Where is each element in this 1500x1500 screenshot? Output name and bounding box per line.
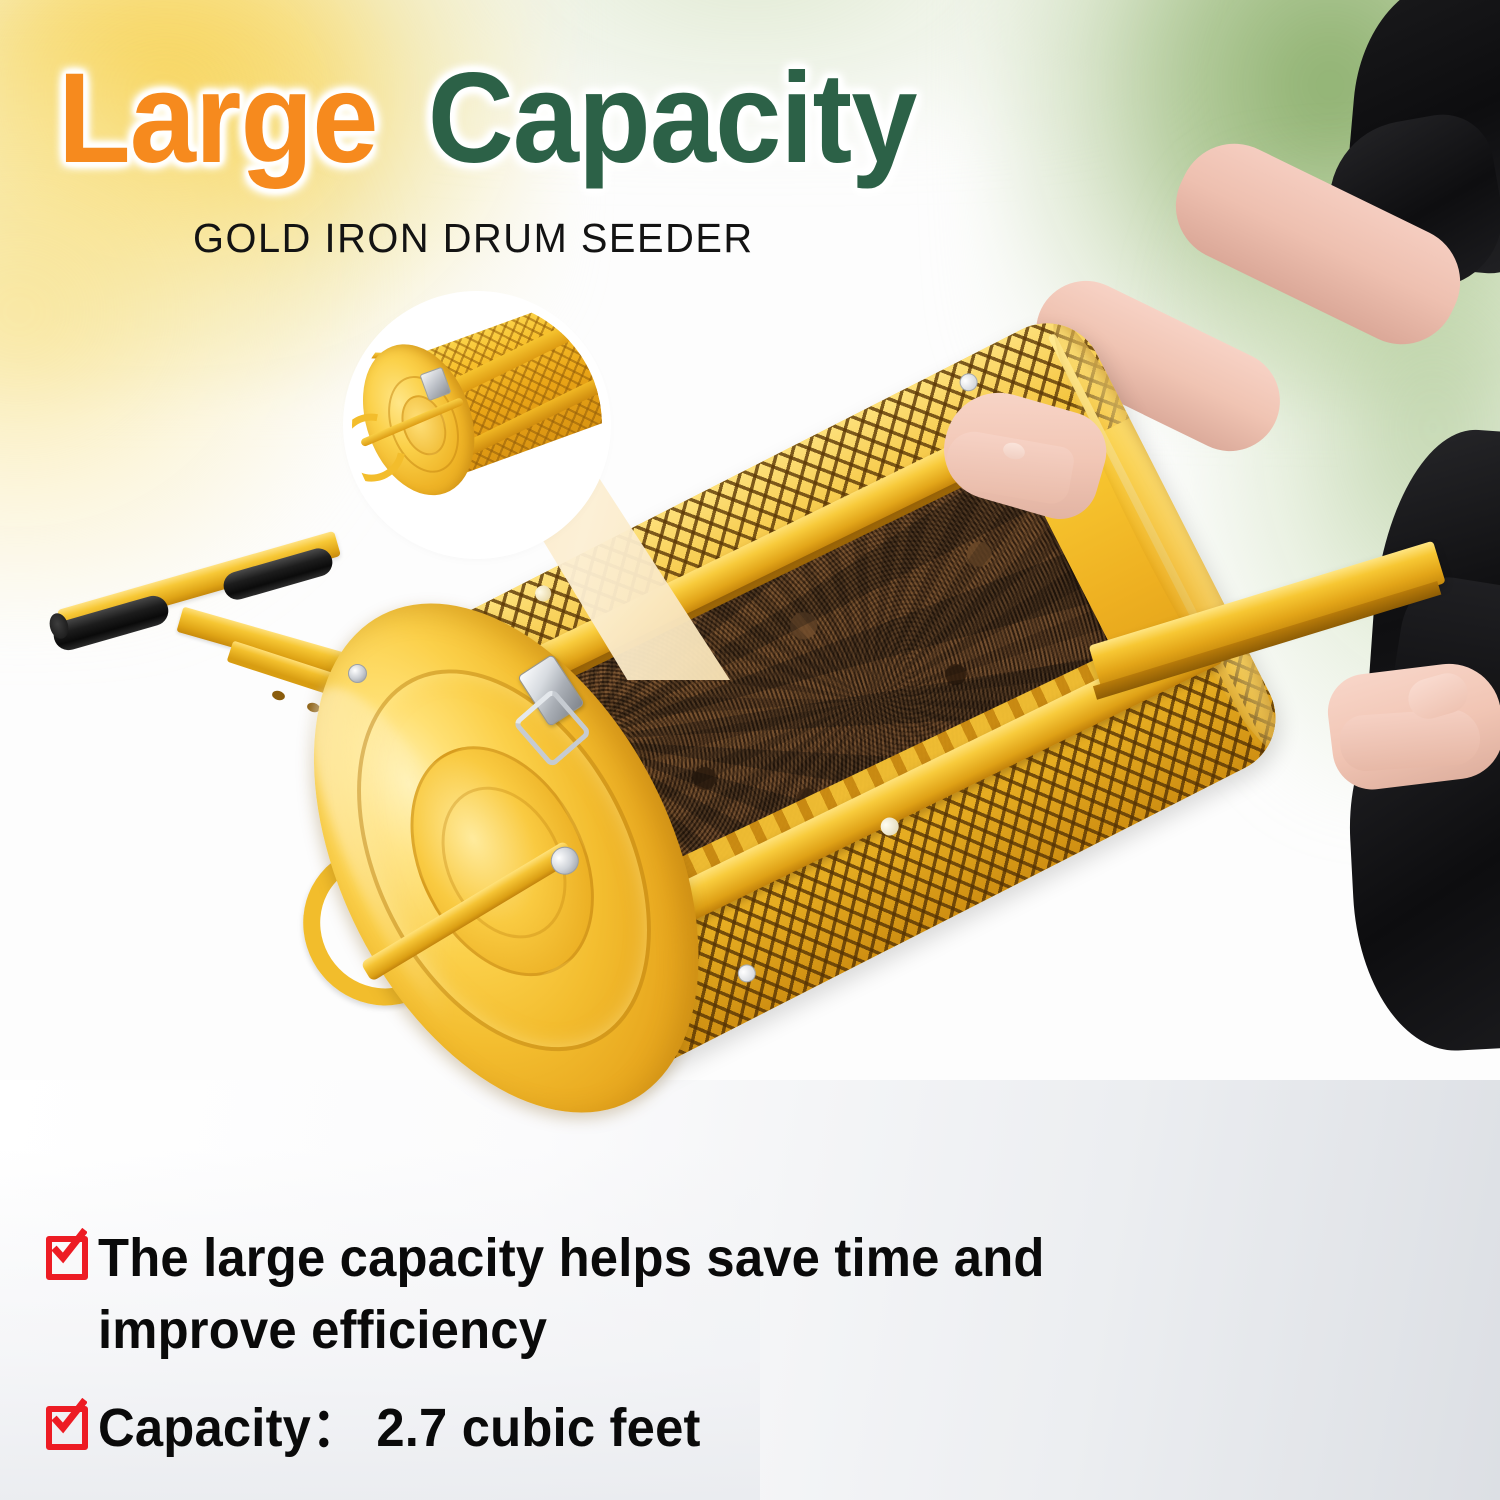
feature-bullet-text: The large capacity helps save time and i… xyxy=(98,1222,1254,1366)
person-hand-bottom-fingers xyxy=(1338,707,1482,773)
red-checkbox-icon xyxy=(44,1230,84,1272)
callout-inset-circle xyxy=(352,300,602,550)
feature-bullet-list: The large capacity helps save time and i… xyxy=(44,1222,1344,1490)
feature-bullet-text: Capacity： 2.7 cubic feet xyxy=(98,1392,701,1464)
red-checkbox-icon xyxy=(44,1400,84,1442)
headline: LargeCapacity xyxy=(58,52,1100,192)
callout-inset-image xyxy=(352,300,602,550)
feature-bullet-item: The large capacity helps save time and i… xyxy=(44,1222,1344,1366)
feature-bullet-item: Capacity： 2.7 cubic feet xyxy=(44,1392,1344,1464)
headline-word-capacity: Capacity xyxy=(428,52,917,186)
handle-bolt-icon xyxy=(348,664,367,683)
checkbox-check-mark xyxy=(47,1398,87,1438)
headline-word-large: Large xyxy=(58,52,378,186)
subtitle: GOLD IRON DRUM SEEDER xyxy=(193,215,754,262)
product-marketing-image: LargeCapacity GOLD IRON DRUM SEEDER xyxy=(0,0,1500,1500)
mini-drum-illustration xyxy=(352,300,602,550)
checkbox-check-mark xyxy=(47,1228,87,1268)
